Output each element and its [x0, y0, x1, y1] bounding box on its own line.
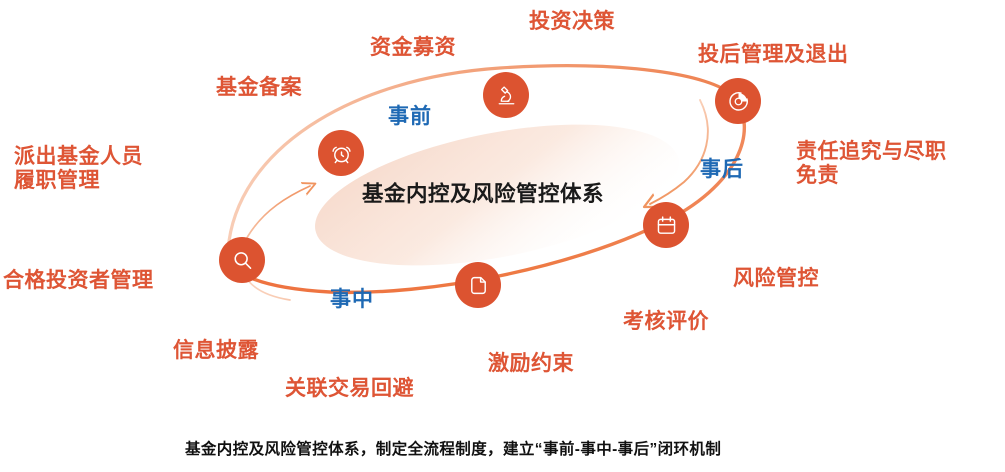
label-assessment: 考核评价 [623, 310, 709, 334]
document-icon [467, 274, 490, 297]
node-alarm-clock[interactable] [318, 130, 364, 176]
label-investment-decision: 投资决策 [529, 10, 615, 34]
phase-label-after: 事后 [700, 158, 744, 182]
label-qualified-investor: 合格投资者管理 [3, 269, 154, 293]
label-related-party: 关联交易回避 [285, 377, 414, 401]
microscope-icon [495, 84, 518, 107]
phase-label-during: 事中 [330, 288, 374, 312]
node-search[interactable] [219, 237, 265, 283]
node-document[interactable] [455, 262, 501, 308]
node-donut-chart[interactable] [715, 78, 761, 124]
calendar-icon [655, 214, 678, 237]
node-microscope[interactable] [483, 72, 529, 118]
search-icon [231, 249, 254, 272]
label-dispatch-staff: 派出基金人员 履职管理 [14, 145, 143, 193]
bottom-caption: 基金内控及风险管控体系，制定全流程制度，建立“事前-事中-事后”闭环机制 [185, 437, 721, 459]
center-title: 基金内控及风险管控体系 [362, 177, 604, 208]
cycle-diagram-graphic [0, 0, 1005, 472]
label-risk-control: 风险管控 [733, 267, 819, 291]
label-post-investment: 投后管理及退出 [698, 43, 849, 67]
label-fund-filing: 基金备案 [216, 76, 302, 100]
label-incentive: 激励约束 [488, 352, 574, 376]
label-fundraising: 资金募资 [370, 36, 456, 60]
diagram-canvas: 基金内控及风险管控体系 事前 事中 事后 派出基金人员 履职管理 基金备案 资金… [0, 0, 1005, 472]
label-accountability: 责任追究与尽职 免责 [796, 140, 947, 188]
phase-label-before: 事前 [388, 105, 432, 129]
alarm-clock-icon [330, 142, 353, 165]
node-calendar[interactable] [643, 202, 689, 248]
label-disclosure: 信息披露 [173, 339, 259, 363]
donut-chart-icon [727, 90, 750, 113]
